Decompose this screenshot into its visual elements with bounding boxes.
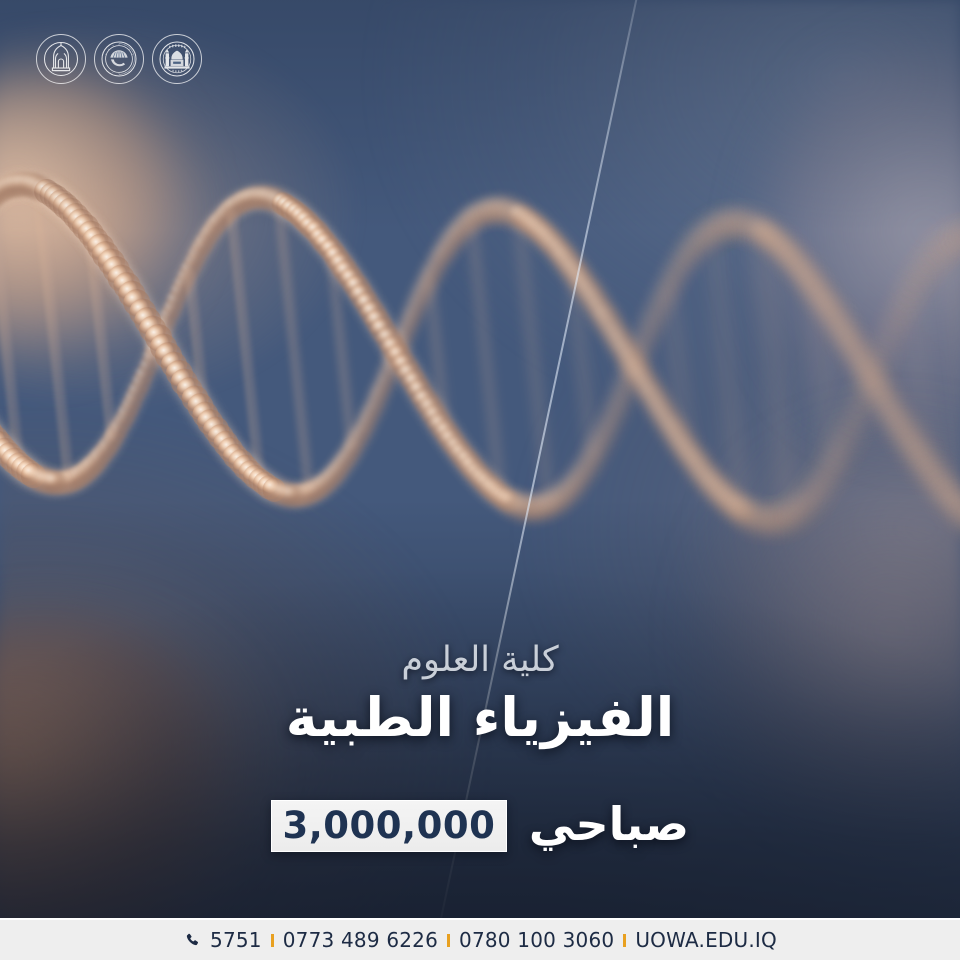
contact-footer-bar: 5751 0773 489 6226 0780 100 3060 UOWA.ED… (0, 918, 960, 960)
admission-poster: كلية العلوم الفيزياء الطبية صباحي 3,000,… (0, 0, 960, 960)
university-of-kerbala-emblem (94, 34, 144, 84)
footer-separator (271, 934, 274, 947)
title-block: كلية العلوم الفيزياء الطبية (0, 640, 960, 750)
footer-separator (623, 934, 626, 947)
footer-separator (447, 934, 450, 947)
tuition-row: صباحي 3,000,000 (0, 800, 960, 852)
logo-row (36, 34, 202, 84)
footer-contact-0[interactable]: 5751 (210, 928, 262, 952)
study-shift-label: صباحي (529, 801, 689, 851)
tuition-price-value: 3,000,000 (282, 807, 495, 846)
department-name: الفيزياء الطبية (0, 686, 960, 750)
footer-contact-1[interactable]: 0773 489 6226 (283, 928, 438, 952)
tuition-price-chip: 3,000,000 (271, 800, 507, 852)
ministry-of-higher-education-emblem (36, 34, 86, 84)
university-of-warith-al-anbiyaa-emblem (152, 34, 202, 84)
footer-website-link[interactable]: UOWA.EDU.IQ (635, 928, 777, 952)
phone-icon (184, 932, 201, 949)
faculty-name: كلية العلوم (0, 640, 960, 680)
footer-contact-2[interactable]: 0780 100 3060 (459, 928, 614, 952)
